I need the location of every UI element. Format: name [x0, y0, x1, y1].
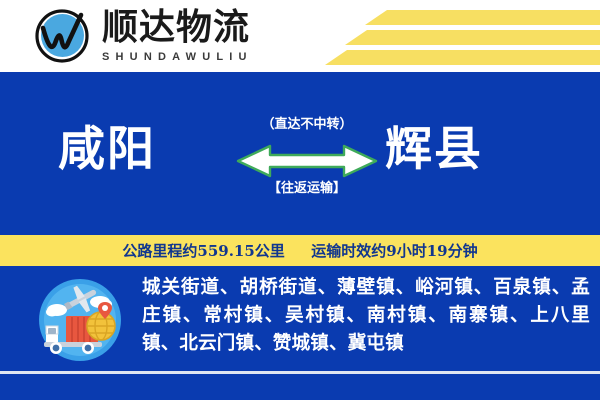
double-arrow-icon	[232, 138, 382, 178]
distance-text: 公路里程约559.15公里	[122, 242, 284, 260]
route-section: 咸阳 （直达不中转） 【往返运输】 辉县	[0, 72, 600, 235]
coverage-area-list: 城关街道、胡桥街道、薄壁镇、峪河镇、百泉镇、孟庄镇、常村镇、吴村镇、南村镇、南寨…	[142, 274, 590, 358]
route-middle: （直达不中转） 【往返运输】	[232, 116, 382, 198]
banner-header: 顺达物流 SHUNDAWULIU	[0, 0, 600, 72]
brand-name-cn: 顺达物流	[102, 8, 253, 48]
brand-name-en: SHUNDAWULIU	[102, 50, 253, 64]
stripe-3	[325, 50, 600, 65]
stripe-1	[365, 10, 600, 25]
duration-text: 运输时效约9小时19分钟	[311, 242, 477, 260]
stripe-2	[345, 30, 600, 45]
truck-globe-plane-icon	[36, 276, 124, 364]
decorative-stripes	[310, 0, 600, 72]
coverage-section: 城关街道、胡桥街道、薄壁镇、峪河镇、百泉镇、孟庄镇、常村镇、吴村镇、南村镇、南寨…	[0, 266, 600, 371]
logo-circle-w-icon	[32, 6, 92, 66]
destination-city: 辉县	[385, 122, 483, 178]
brand-logo: 顺达物流 SHUNDAWULIU	[32, 6, 253, 66]
direct-note: （直达不中转）	[232, 116, 382, 134]
roundtrip-note: 【往返运输】	[232, 180, 382, 198]
banner-footer	[0, 374, 600, 400]
logistics-route-banner: 顺达物流 SHUNDAWULIU 咸阳 （直达不中转） 【往返运输】 辉县 公	[0, 0, 600, 400]
origin-city: 咸阳	[58, 122, 156, 178]
brand-text: 顺达物流 SHUNDAWULIU	[102, 6, 253, 64]
info-band: 公路里程约559.15公里 运输时效约9小时19分钟	[0, 235, 600, 266]
info-band-text: 公路里程约559.15公里 运输时效约9小时19分钟	[122, 240, 477, 261]
